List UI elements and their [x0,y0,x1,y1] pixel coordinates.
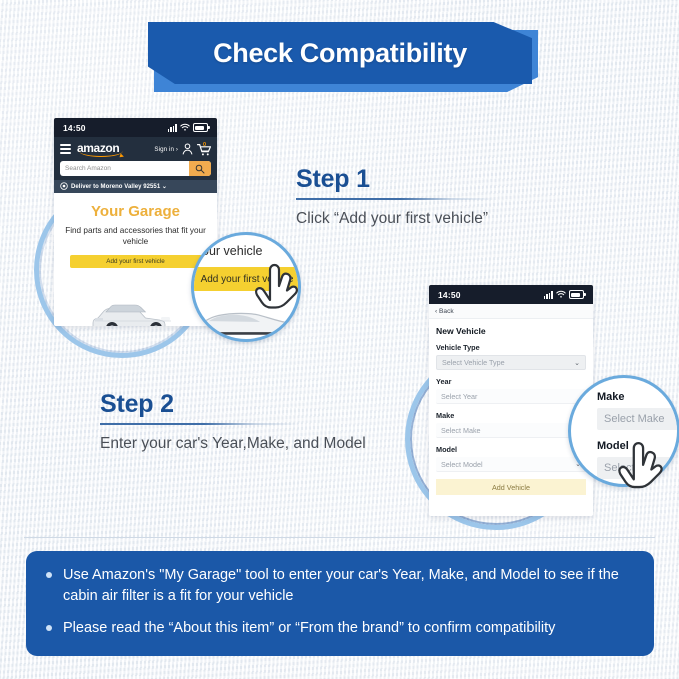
amazon-logo[interactable]: amazon [77,142,119,156]
search-button[interactable] [189,161,211,176]
model-select[interactable]: Select Model ⌄ [436,457,586,472]
vehicle-type-select[interactable]: Select Vehicle Type ⌄ [436,355,586,370]
person-icon[interactable] [182,143,193,155]
hamburger-menu-icon[interactable] [60,144,71,153]
hand-pointer-cursor-step1 [254,262,298,320]
magnified-make-label: Make [597,391,625,403]
status-time: 14:50 [438,290,461,300]
make-value: Select Make [441,426,481,435]
search-input[interactable]: Search Amazon [60,165,189,172]
step-2-rule [100,423,300,425]
field-label-make: Make [436,411,586,420]
field-group-vehicle-type: Vehicle Type Select Vehicle Type ⌄ [436,343,586,370]
garage-section: Your Garage Find parts and accessories t… [54,193,217,326]
battery-icon [569,290,584,300]
sign-in-link[interactable]: Sign in › [154,146,178,153]
amazon-nav-row: amazon Sign in › 0 [60,142,211,156]
callout-list-item: Use Amazon's "My Garage" tool to enter y… [46,565,634,606]
status-bar: 14:50 [54,118,217,137]
field-group-make: Make Select Make [436,411,586,438]
new-vehicle-form: New Vehicle Vehicle Type Select Vehicle … [429,319,593,495]
wifi-icon [556,290,566,299]
make-select[interactable]: Select Make [436,423,586,438]
garage-title: Your Garage [62,203,209,220]
field-group-year: Year Select Year [436,377,586,404]
chevron-down-icon: ⌄ [574,359,580,367]
callout-item-text: Please read the “About this item” or “Fr… [63,618,555,639]
magnified-make-select[interactable]: Select Make [597,408,679,430]
amazon-nav-right: Sign in › 0 [154,143,211,156]
model-value: Select Model [441,460,483,469]
step-1-rule [296,198,496,200]
wifi-icon [180,123,190,132]
step-1-block: Step 1 Click “Add your first vehicle” [296,165,626,229]
amazon-nav-left: amazon [60,142,119,156]
add-first-vehicle-button[interactable]: Add your first vehicle [70,255,202,268]
search-bar[interactable]: Search Amazon [60,161,211,176]
add-vehicle-button[interactable]: Add Vehicle [436,479,586,495]
step-1-description: Click “Add your first vehicle” [296,209,626,229]
field-label-model: Model [436,445,586,454]
status-icons [544,290,584,300]
vehicle-type-value: Select Vehicle Type [442,358,505,367]
amazon-smile-icon [79,151,123,157]
bullet-dot-icon [46,625,52,631]
callout-list-item: Please read the “About this item” or “Fr… [46,618,634,639]
page-title: Check Compatibility [213,38,467,69]
status-icons [168,123,208,133]
field-label-year: Year [436,377,586,386]
shopping-cart-icon[interactable]: 0 [197,143,211,156]
compatibility-callout: Use Amazon's "My Garage" tool to enter y… [26,551,654,656]
magnifier-context-text: our vehicle [202,244,262,258]
year-select[interactable]: Select Year [436,389,586,404]
header-banner: Check Compatibility [148,22,532,84]
delivery-location-bar[interactable]: Deliver to Moreno Valley 92551 ⌄ [54,180,217,193]
callout-item-text: Use Amazon's "My Garage" tool to enter y… [63,565,634,606]
step-2-block: Step 2 Enter your car's Year,Make, and M… [100,390,400,454]
field-group-model: Model Select Model ⌄ [436,445,586,472]
step-2-description: Enter your car's Year,Make, and Model [100,434,400,454]
hand-pointer-cursor-step2 [617,440,663,500]
banner-main-layer: Check Compatibility [148,22,532,84]
delivery-location-text: Deliver to Moreno Valley 92551 ⌄ [71,183,167,190]
form-heading: New Vehicle [436,326,586,336]
cart-count-badge: 0 [203,142,206,148]
back-button[interactable]: ‹ Back [429,304,593,319]
status-time: 14:50 [63,123,86,133]
suv-car-illustration [86,294,186,326]
signal-bars-icon [168,124,177,132]
amazon-navbar: amazon Sign in › 0 [54,137,217,180]
garage-subtitle: Find parts and accessories that fit your… [62,225,209,247]
field-label-vehicle-type: Vehicle Type [436,343,586,352]
year-value: Select Year [441,392,477,401]
battery-icon [193,123,208,133]
bullet-dot-icon [46,572,52,578]
search-icon [195,164,205,174]
step-1-heading: Step 1 [296,165,626,194]
step-2-heading: Step 2 [100,390,400,419]
signal-bars-icon [544,291,553,299]
phone-mockup-new-vehicle: 14:50 ‹ Back New Vehicle Vehicle Type Se… [429,285,593,516]
location-pin-icon [60,182,68,191]
section-divider [24,537,655,538]
status-bar: 14:50 [429,285,593,304]
